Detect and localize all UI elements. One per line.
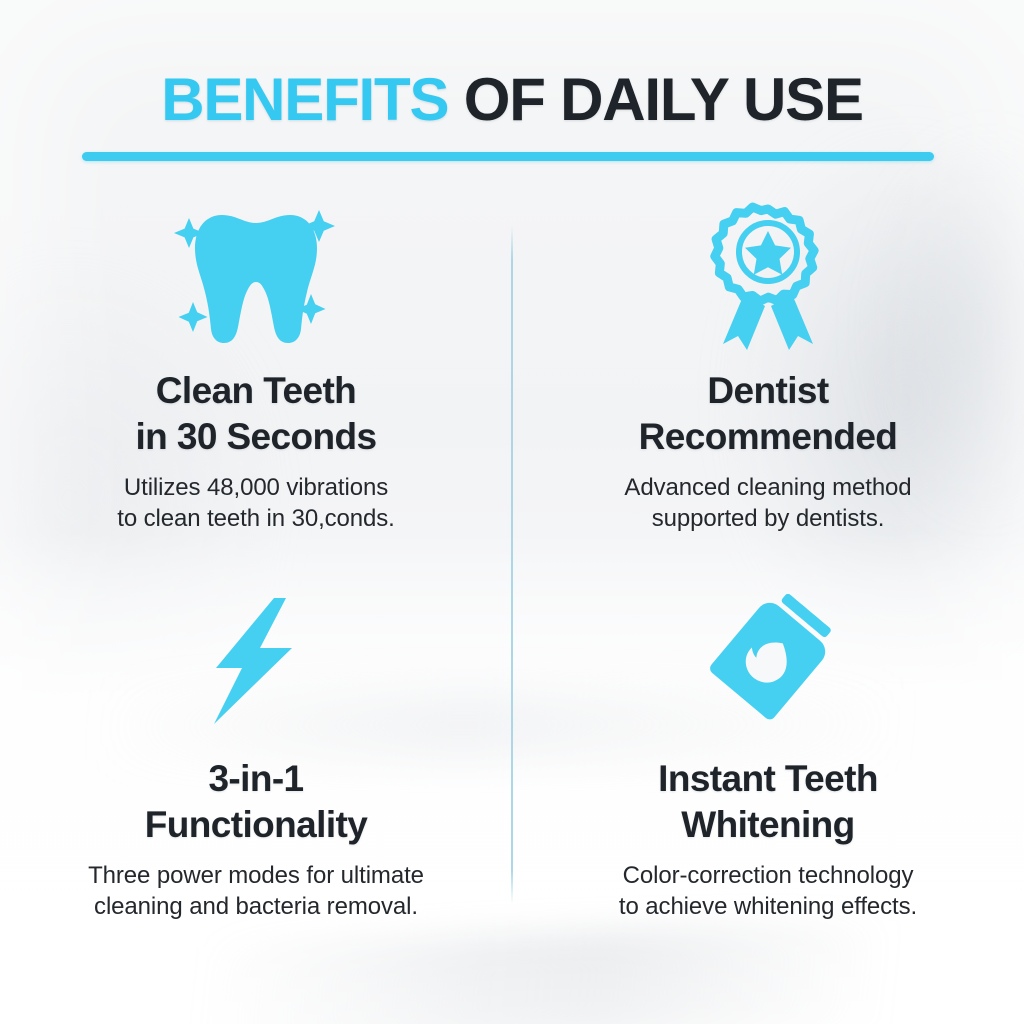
benefit-title-line2: Recommended bbox=[639, 416, 898, 457]
benefit-title-line1: 3-in-1 bbox=[208, 758, 303, 799]
benefit-title: Instant TeethWhitening bbox=[658, 756, 878, 849]
benefit-title: DentistRecommended bbox=[639, 368, 898, 461]
benefit-desc-line1: Color-correction technology bbox=[623, 862, 914, 889]
benefit-card-dentist-recommended: DentistRecommended Advanced cleaning met… bbox=[512, 196, 1024, 566]
benefit-title-line2: Whitening bbox=[681, 804, 854, 845]
benefit-title-line1: Clean Teeth bbox=[156, 370, 356, 411]
tooth-sparkle-icon bbox=[167, 202, 345, 352]
benefit-card-clean-teeth: Clean Teethin 30 Seconds Utilizes 48,000… bbox=[0, 196, 512, 566]
benefit-card-3-in-1: 3-in-1Functionality Three power modes fo… bbox=[0, 566, 512, 936]
benefit-title: Clean Teethin 30 Seconds bbox=[135, 368, 376, 461]
benefit-title: 3-in-1Functionality bbox=[145, 756, 367, 849]
benefit-description: Utilizes 48,000 vibrationsto clean teeth… bbox=[117, 472, 395, 534]
page-title-accent: BENEFITS bbox=[161, 66, 448, 133]
benefit-title-line2: Functionality bbox=[145, 804, 367, 845]
benefit-desc-line1: Utilizes 48,000 vibrations bbox=[124, 474, 388, 501]
title-underline-rule bbox=[82, 152, 934, 161]
page-title: BENEFITS OF DAILY USE bbox=[0, 0, 1024, 130]
lightning-bolt-icon bbox=[0, 586, 512, 736]
benefit-card-whitening: Instant TeethWhitening Color-correction … bbox=[512, 566, 1024, 936]
benefit-title-line1: Dentist bbox=[707, 370, 828, 411]
page-title-rest: OF DAILY USE bbox=[448, 66, 863, 133]
benefit-title-line1: Instant Teeth bbox=[658, 758, 878, 799]
benefit-desc-line2: supported by dentists. bbox=[652, 505, 885, 532]
benefit-desc-line1: Advanced cleaning method bbox=[624, 474, 911, 501]
header: BENEFITS OF DAILY USE bbox=[0, 0, 1024, 130]
award-ribbon-icon bbox=[703, 202, 833, 352]
benefit-desc-line1: Three power modes for ultimate bbox=[88, 862, 424, 889]
benefit-title-line2: in 30 Seconds bbox=[135, 416, 376, 457]
benefit-desc-line2: cleaning and bacteria removal. bbox=[94, 893, 418, 920]
benefit-desc-line2: to achieve whitening effects. bbox=[619, 893, 917, 920]
benefits-grid: Clean Teethin 30 Seconds Utilizes 48,000… bbox=[0, 196, 1024, 936]
benefit-desc-line2: to clean teeth in 30,conds. bbox=[117, 505, 395, 532]
benefit-description: Advanced cleaning methodsupported by den… bbox=[624, 472, 911, 534]
benefit-description: Three power modes for ultimatecleaning a… bbox=[88, 860, 424, 922]
toothpaste-tube-icon bbox=[512, 586, 1024, 736]
benefits-infographic: BENEFITS OF DAILY USE Clean Teethin 30 S… bbox=[0, 0, 1024, 1024]
benefit-description: Color-correction technologyto achieve wh… bbox=[619, 860, 917, 922]
